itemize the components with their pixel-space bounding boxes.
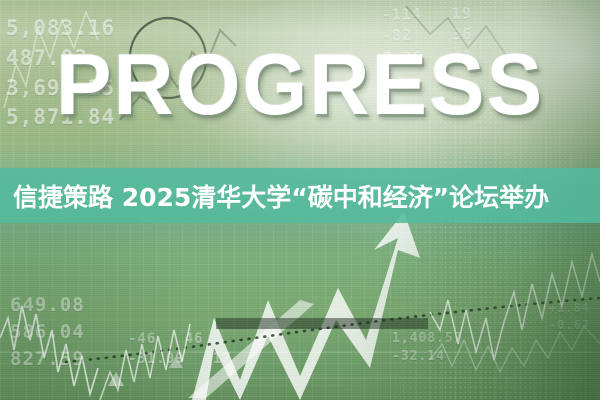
banner-title: 信捷策路 2025清华大学“碳中和经济”论坛举办 (0, 168, 600, 223)
line-chart-left (0, 306, 98, 394)
progress-banner: 5,083.16 487.03 3,691.25 5,871.84 -114 1… (0, 0, 600, 400)
headline-progress: PROGRESS (9, 42, 591, 128)
dark-smudge (216, 318, 428, 329)
